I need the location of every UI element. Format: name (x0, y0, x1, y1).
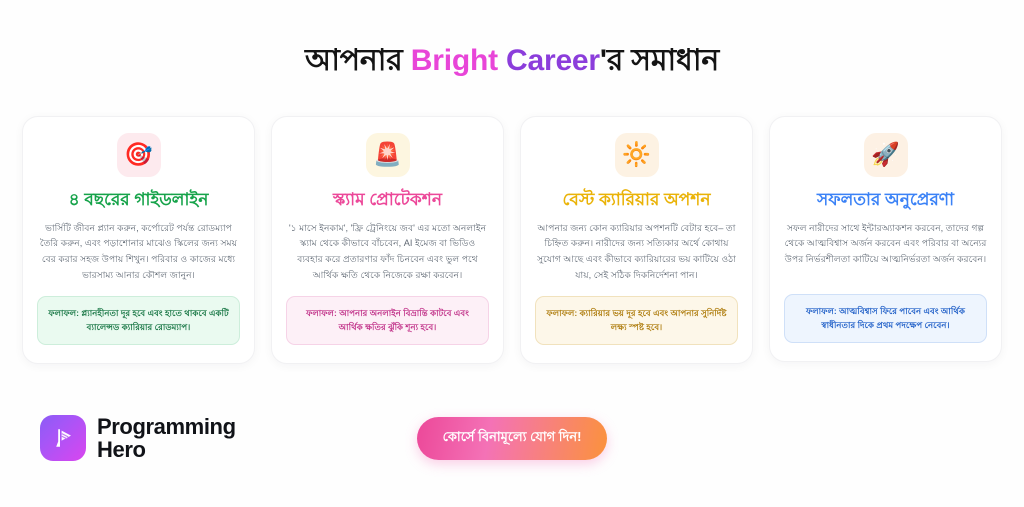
title-segment-suffix: 'র সমাধান (600, 44, 719, 77)
card-body-text: ভার্সিটি জীবন প্ল্যান করুন, কর্পোরেট পর্… (37, 221, 240, 284)
page-footer: Programming Hero কোর্সে বিনামূল্যে যোগ দ… (0, 370, 1024, 507)
title-segment-prefix: আপনার (305, 44, 411, 77)
card-heading: বেস্ট ক্যারিয়ার অপশন (563, 189, 711, 211)
card-body-text: সফল নারীদের সাথে ইন্টারঅ্যাকশন করবেন, তা… (784, 221, 987, 282)
card-result-box: ফলাফল: প্ল্যানহীনতা দূর হবে এবং হাতে থাক… (37, 296, 240, 345)
pyramid-light-icon: 🔆 (615, 133, 659, 177)
card-heading: ৪ বছরের গাইডলাইন (69, 189, 209, 211)
card-body-text: আপনার জন্য কোন ক্যারিয়ার অপশনটি বেটার হ… (535, 221, 738, 284)
dart-target-icon: 🎯 (117, 133, 161, 177)
brand-name-line2: Hero (97, 438, 236, 461)
card-body-text: '১ মাসে ইনকাম', 'ফ্রি ট্রেনিংয়ে জব' এর … (286, 221, 489, 284)
card-heading: স্ক্যাম প্রোটেকশন (333, 189, 442, 211)
rocket-icon: 🚀 (864, 133, 908, 177)
page-title: আপনার Bright Career'র সমাধান (0, 42, 1024, 80)
feature-card-grid: 🎯 ৪ বছরের গাইডলাইন ভার্সিটি জীবন প্ল্যান… (0, 116, 1024, 364)
warning-alert-icon: 🚨 (366, 133, 410, 177)
title-segment-space (498, 44, 506, 77)
card-result-box: ফলাফল: আপনার অনলাইন বিভ্রান্তি কাটবে এবং… (286, 296, 489, 345)
play-arrow-logo-icon (40, 415, 86, 461)
brand-name-line1: Programming (97, 415, 236, 438)
feature-card-guideline[interactable]: 🎯 ৪ বছরের গাইডলাইন ভার্সিটি জীবন প্ল্যান… (22, 116, 255, 364)
card-heading: সফলতার অনুপ্রেরণা (817, 189, 954, 211)
card-result-box: ফলাফল: আত্মবিশ্বাস ফিরে পাবেন এবং আর্থিক… (784, 294, 987, 343)
feature-card-success-inspiration[interactable]: 🚀 সফলতার অনুপ্রেরণা সফল নারীদের সাথে ইন্… (769, 116, 1002, 362)
title-segment-career: Career (506, 44, 600, 77)
page-header: আপনার Bright Career'র সমাধান (0, 0, 1024, 80)
landing-page: আপনার Bright Career'র সমাধান 🎯 ৪ বছরের গ… (0, 0, 1024, 507)
brand-name: Programming Hero (97, 415, 236, 461)
programming-hero-logo[interactable]: Programming Hero (40, 415, 236, 461)
feature-card-scam-protection[interactable]: 🚨 স্ক্যাম প্রোটেকশন '১ মাসে ইনকাম', 'ফ্র… (271, 116, 504, 364)
title-segment-bright: Bright (411, 44, 498, 77)
card-result-box: ফলাফল: ক্যারিয়ার ভয় দূর হবে এবং আপনার … (535, 296, 738, 345)
feature-card-best-career-option[interactable]: 🔆 বেস্ট ক্যারিয়ার অপশন আপনার জন্য কোন ক… (520, 116, 753, 364)
join-course-free-button[interactable]: কোর্সে বিনামূল্যে যোগ দিন! (417, 417, 608, 460)
